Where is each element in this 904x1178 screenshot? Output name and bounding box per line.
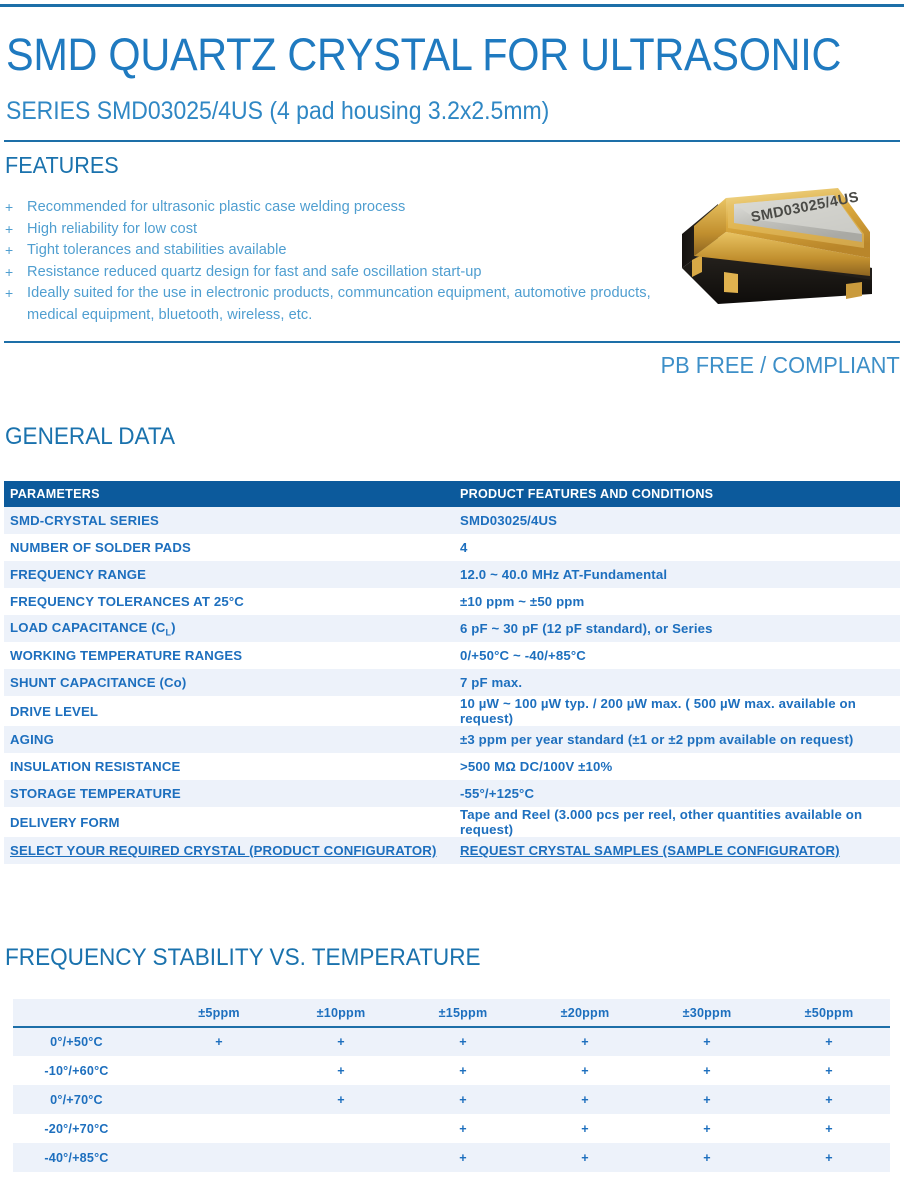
table-row: WORKING TEMPERATURE RANGES 0/+50°C ~ -40… — [4, 642, 900, 669]
general-data-table: PARAMETERS PRODUCT FEATURES AND CONDITIO… — [4, 481, 900, 864]
availability-mark: + — [646, 1027, 768, 1056]
availability-mark: + — [768, 1114, 890, 1143]
features-divider — [4, 140, 900, 142]
availability-mark: + — [646, 1143, 768, 1172]
availability-mark: + — [158, 1027, 280, 1056]
plus-icon: + — [5, 283, 27, 305]
row-temperature-range: -40°/+85°C — [13, 1143, 158, 1172]
row-parameter: DRIVE LEVEL — [4, 696, 454, 726]
row-temperature-range: 0°/+70°C — [13, 1085, 158, 1114]
row-value: -55°/+125°C — [454, 780, 900, 807]
row-parameter: FREQUENCY TOLERANCES AT 25°C — [4, 588, 454, 615]
row-temperature-range: -20°/+70°C — [13, 1114, 158, 1143]
availability-mark: + — [402, 1027, 524, 1056]
plus-icon: + — [5, 262, 27, 284]
feature-text: Recommended for ultrasonic plastic case … — [27, 197, 675, 219]
general-data-heading: GENERAL DATA — [5, 423, 175, 451]
row-parameter: LOAD CAPACITANCE (CL) — [4, 615, 454, 642]
availability-mark — [280, 1114, 402, 1143]
feature-text: High reliability for low cost — [27, 219, 675, 241]
row-parameter: SMD-CRYSTAL SERIES — [4, 507, 454, 534]
availability-mark: + — [524, 1143, 646, 1172]
availability-mark: + — [524, 1085, 646, 1114]
availability-mark: + — [402, 1114, 524, 1143]
row-parameter: INSULATION RESISTANCE — [4, 753, 454, 780]
availability-mark: + — [646, 1114, 768, 1143]
availability-mark: + — [768, 1143, 890, 1172]
row-value: 4 — [454, 534, 900, 561]
row-parameter: SHUNT CAPACITANCE (Co) — [4, 669, 454, 696]
features-list: + Recommended for ultrasonic plastic cas… — [5, 197, 675, 326]
list-item: + Ideally suited for the use in electron… — [5, 283, 675, 326]
row-value: SMD03025/4US — [454, 507, 900, 534]
row-parameter: NUMBER OF SOLDER PADS — [4, 534, 454, 561]
column-header-10ppm: ±10ppm — [280, 999, 402, 1027]
table-row: NUMBER OF SOLDER PADS 4 — [4, 534, 900, 561]
row-value: 7 pF max. — [454, 669, 900, 696]
table-row: 0°/+70°C + + + + + — [13, 1085, 890, 1114]
table-row: INSULATION RESISTANCE >500 MΩ DC/100V ±1… — [4, 753, 900, 780]
availability-mark — [158, 1143, 280, 1172]
availability-mark: + — [524, 1056, 646, 1085]
availability-mark: + — [524, 1027, 646, 1056]
table-row: SHUNT CAPACITANCE (Co) 7 pF max. — [4, 669, 900, 696]
product-configurator-link[interactable]: SELECT YOUR REQUIRED CRYSTAL (PRODUCT CO… — [4, 837, 454, 864]
plus-icon: + — [5, 197, 27, 219]
table-row: SMD-CRYSTAL SERIES SMD03025/4US — [4, 507, 900, 534]
feature-text: Resistance reduced quartz design for fas… — [27, 262, 675, 284]
availability-mark — [158, 1114, 280, 1143]
sample-configurator-link[interactable]: REQUEST CRYSTAL SAMPLES (SAMPLE CONFIGUR… — [454, 837, 900, 864]
list-item: + High reliability for low cost — [5, 219, 675, 241]
row-temperature-range: 0°/+50°C — [13, 1027, 158, 1056]
availability-mark: + — [402, 1143, 524, 1172]
plus-icon: + — [5, 240, 27, 262]
table-row: STORAGE TEMPERATURE -55°/+125°C — [4, 780, 900, 807]
row-value: 6 pF ~ 30 pF (12 pF standard), or Series — [454, 615, 900, 642]
row-value: ±10 ppm ~ ±50 ppm — [454, 588, 900, 615]
table-row: -20°/+70°C + + + + — [13, 1114, 890, 1143]
column-header-30ppm: ±30ppm — [646, 999, 768, 1027]
availability-mark: + — [524, 1114, 646, 1143]
row-value: 10 µW ~ 100 µW typ. / 200 µW max. ( 500 … — [454, 696, 900, 726]
table-row: 0°/+50°C + + + + + + — [13, 1027, 890, 1056]
row-parameter: FREQUENCY RANGE — [4, 561, 454, 588]
column-header-5ppm: ±5ppm — [158, 999, 280, 1027]
datasheet-page: SMD QUARTZ CRYSTAL FOR ULTRASONIC SERIES… — [0, 0, 904, 1178]
features-heading: FEATURES — [5, 152, 119, 179]
availability-mark: + — [280, 1056, 402, 1085]
feature-text: Tight tolerances and stabilities availab… — [27, 240, 675, 262]
availability-mark — [158, 1085, 280, 1114]
table-row: DRIVE LEVEL 10 µW ~ 100 µW typ. / 200 µW… — [4, 696, 900, 726]
feature-text: Ideally suited for the use in electronic… — [27, 283, 675, 326]
table-row: -40°/+85°C + + + + — [13, 1143, 890, 1172]
column-header-conditions: PRODUCT FEATURES AND CONDITIONS — [454, 481, 900, 507]
availability-mark — [280, 1143, 402, 1172]
column-header-corner — [13, 999, 158, 1027]
plus-icon: + — [5, 219, 27, 241]
table-row: AGING ±3 ppm per year standard (±1 or ±2… — [4, 726, 900, 753]
table-row: FREQUENCY RANGE 12.0 ~ 40.0 MHz AT-Funda… — [4, 561, 900, 588]
row-value: Tape and Reel (3.000 pcs per reel, other… — [454, 807, 900, 837]
list-item: + Resistance reduced quartz design for f… — [5, 262, 675, 284]
list-item: + Recommended for ultrasonic plastic cas… — [5, 197, 675, 219]
row-parameter: AGING — [4, 726, 454, 753]
row-parameter: DELIVERY FORM — [4, 807, 454, 837]
table-header-row: ±5ppm ±10ppm ±15ppm ±20ppm ±30ppm ±50ppm — [13, 999, 890, 1027]
stability-table: ±5ppm ±10ppm ±15ppm ±20ppm ±30ppm ±50ppm… — [13, 999, 890, 1172]
availability-mark: + — [280, 1027, 402, 1056]
row-temperature-range: -10°/+60°C — [13, 1056, 158, 1085]
column-header-parameters: PARAMETERS — [4, 481, 454, 507]
top-divider — [0, 4, 904, 7]
row-parameter: STORAGE TEMPERATURE — [4, 780, 454, 807]
availability-mark: + — [402, 1085, 524, 1114]
column-header-15ppm: ±15ppm — [402, 999, 524, 1027]
column-header-20ppm: ±20ppm — [524, 999, 646, 1027]
table-row: -10°/+60°C + + + + + — [13, 1056, 890, 1085]
table-row: LOAD CAPACITANCE (CL) 6 pF ~ 30 pF (12 p… — [4, 615, 900, 642]
row-parameter-text: LOAD CAPACITANCE (CL) — [10, 620, 176, 635]
stability-heading: FREQUENCY STABILITY VS. TEMPERATURE — [5, 944, 481, 972]
page-title: SMD QUARTZ CRYSTAL FOR ULTRASONIC — [6, 28, 825, 82]
availability-mark: + — [768, 1027, 890, 1056]
row-parameter: WORKING TEMPERATURE RANGES — [4, 642, 454, 669]
availability-mark: + — [280, 1085, 402, 1114]
row-value: 12.0 ~ 40.0 MHz AT-Fundamental — [454, 561, 900, 588]
availability-mark: + — [646, 1056, 768, 1085]
pbfree-divider — [4, 341, 900, 343]
product-photo: SMD03025/4US — [676, 176, 890, 316]
row-value: 0/+50°C ~ -40/+85°C — [454, 642, 900, 669]
availability-mark: + — [768, 1056, 890, 1085]
availability-mark — [158, 1056, 280, 1085]
row-value: ±3 ppm per year standard (±1 or ±2 ppm a… — [454, 726, 900, 753]
compliance-badge: PB FREE / COMPLIANT — [661, 351, 900, 379]
table-row: SELECT YOUR REQUIRED CRYSTAL (PRODUCT CO… — [4, 837, 900, 864]
availability-mark: + — [768, 1085, 890, 1114]
availability-mark: + — [402, 1056, 524, 1085]
table-header-row: PARAMETERS PRODUCT FEATURES AND CONDITIO… — [4, 481, 900, 507]
table-row: DELIVERY FORM Tape and Reel (3.000 pcs p… — [4, 807, 900, 837]
page-subtitle: SERIES SMD03025/4US (4 pad housing 3.2x2… — [6, 96, 549, 126]
availability-mark: + — [646, 1085, 768, 1114]
table-row: FREQUENCY TOLERANCES AT 25°C ±10 ppm ~ ±… — [4, 588, 900, 615]
row-value: >500 MΩ DC/100V ±10% — [454, 753, 900, 780]
column-header-50ppm: ±50ppm — [768, 999, 890, 1027]
list-item: + Tight tolerances and stabilities avail… — [5, 240, 675, 262]
